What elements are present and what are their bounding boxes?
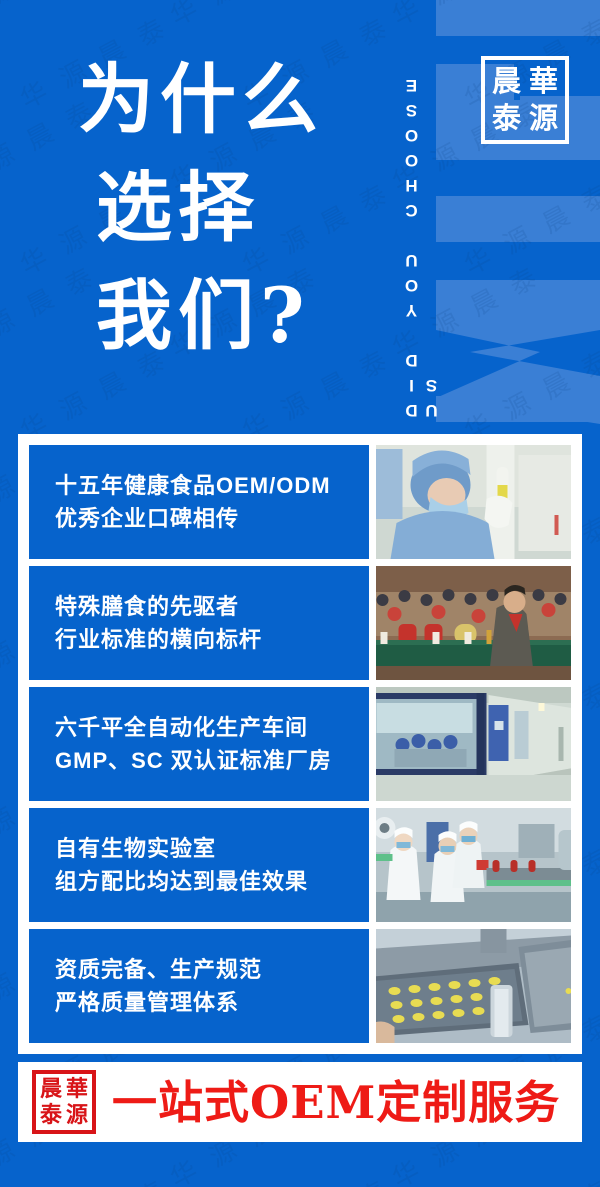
headline-line-2: 选择 bbox=[78, 154, 324, 262]
feature-line-2: 行业标准的横向标杆 bbox=[55, 628, 359, 651]
seal-char-yuan: 源 bbox=[525, 100, 562, 137]
seal-char-chen: 晨 bbox=[488, 63, 525, 100]
list-item: 十五年健康食品OEM/ODM 优秀企业口碑相传 bbox=[29, 445, 571, 559]
photo-blister-packing-machine-yellow-tablets bbox=[376, 929, 571, 1043]
feature-line-2: 严格质量管理体系 bbox=[55, 991, 359, 1014]
brand-seal-logo-red: 華 源 晨 泰 bbox=[32, 1070, 96, 1134]
photo-conference-audience-hall bbox=[376, 566, 571, 680]
seal-char-yuan: 源 bbox=[64, 1102, 90, 1128]
watermark-text: 华 源 晨 泰 bbox=[456, 1169, 600, 1187]
watermark-text: 华 源 晨 泰 bbox=[235, 1169, 397, 1187]
seal-char-hua: 華 bbox=[525, 63, 562, 100]
seal-char-chen: 晨 bbox=[38, 1076, 64, 1102]
feature-line-2: 优秀企业口碑相传 bbox=[55, 507, 359, 530]
slogan-text: 一站式OEM定制服务 bbox=[112, 1080, 560, 1125]
page-title: 为什么 选择 我们? bbox=[78, 46, 324, 370]
list-item: 自有生物实验室 组方配比均达到最佳效果 bbox=[29, 808, 571, 922]
watermark-text: 华 源 晨 泰 bbox=[13, 1169, 175, 1187]
feature-line-1: 六千平全自动化生产车间 bbox=[55, 716, 359, 739]
feature-line-1: 十五年健康食品OEM/ODM bbox=[55, 474, 359, 497]
feature-line-2: GMP、SC 双认证标准厂房 bbox=[55, 749, 359, 772]
feature-text-box: 特殊膳食的先驱者 行业标准的横向标杆 bbox=[29, 566, 369, 680]
photo-lab-technician-inspecting-vial bbox=[376, 445, 571, 559]
feature-line-1: 自有生物实验室 bbox=[55, 837, 359, 860]
list-item: 六千平全自动化生产车间 GMP、SC 双认证标准厂房 bbox=[29, 687, 571, 801]
seal-char-hua: 華 bbox=[64, 1076, 90, 1102]
seal-char-tai: 泰 bbox=[488, 100, 525, 137]
list-item: 特殊膳食的先驱者 行业标准的横向标杆 bbox=[29, 566, 571, 680]
brand-seal-logo: 華 源 晨 泰 bbox=[481, 56, 569, 144]
headline-line-1: 为什么 bbox=[78, 46, 324, 154]
feature-line-1: 特殊膳食的先驱者 bbox=[55, 595, 359, 618]
photo-cleanroom-corridor-window bbox=[376, 687, 571, 801]
list-item: 资质完备、生产规范 严格质量管理体系 bbox=[29, 929, 571, 1043]
photo-workers-white-coats-production-line bbox=[376, 808, 571, 922]
poster-header: 为什么 选择 我们? DID YOU CHOOSE US 華 源 晨 泰 bbox=[0, 0, 600, 420]
feature-text-box: 资质完备、生产规范 严格质量管理体系 bbox=[29, 929, 369, 1043]
features-list: 十五年健康食品OEM/ODM 优秀企业口碑相传 bbox=[29, 445, 571, 1043]
vertical-english-subtitle: DID YOU CHOOSE US bbox=[402, 18, 436, 420]
poster-root: 华 源 晨 泰华 源 晨 泰华 源 晨 泰 华 源 晨 泰华 源 晨 泰华 源 … bbox=[0, 0, 600, 1187]
feature-line-2: 组方配比均达到最佳效果 bbox=[55, 870, 359, 893]
feature-text-box: 十五年健康食品OEM/ODM 优秀企业口碑相传 bbox=[29, 445, 369, 559]
seal-char-tai: 泰 bbox=[38, 1102, 64, 1128]
headline-line-3: 我们? bbox=[78, 262, 324, 370]
feature-text-box: 六千平全自动化生产车间 GMP、SC 双认证标准厂房 bbox=[29, 687, 369, 801]
bottom-slogan-banner: 華 源 晨 泰 一站式OEM定制服务 bbox=[18, 1062, 582, 1142]
feature-text-box: 自有生物实验室 组方配比均达到最佳效果 bbox=[29, 808, 369, 922]
feature-line-1: 资质完备、生产规范 bbox=[55, 958, 359, 981]
features-frame: 十五年健康食品OEM/ODM 优秀企业口碑相传 bbox=[18, 434, 582, 1054]
